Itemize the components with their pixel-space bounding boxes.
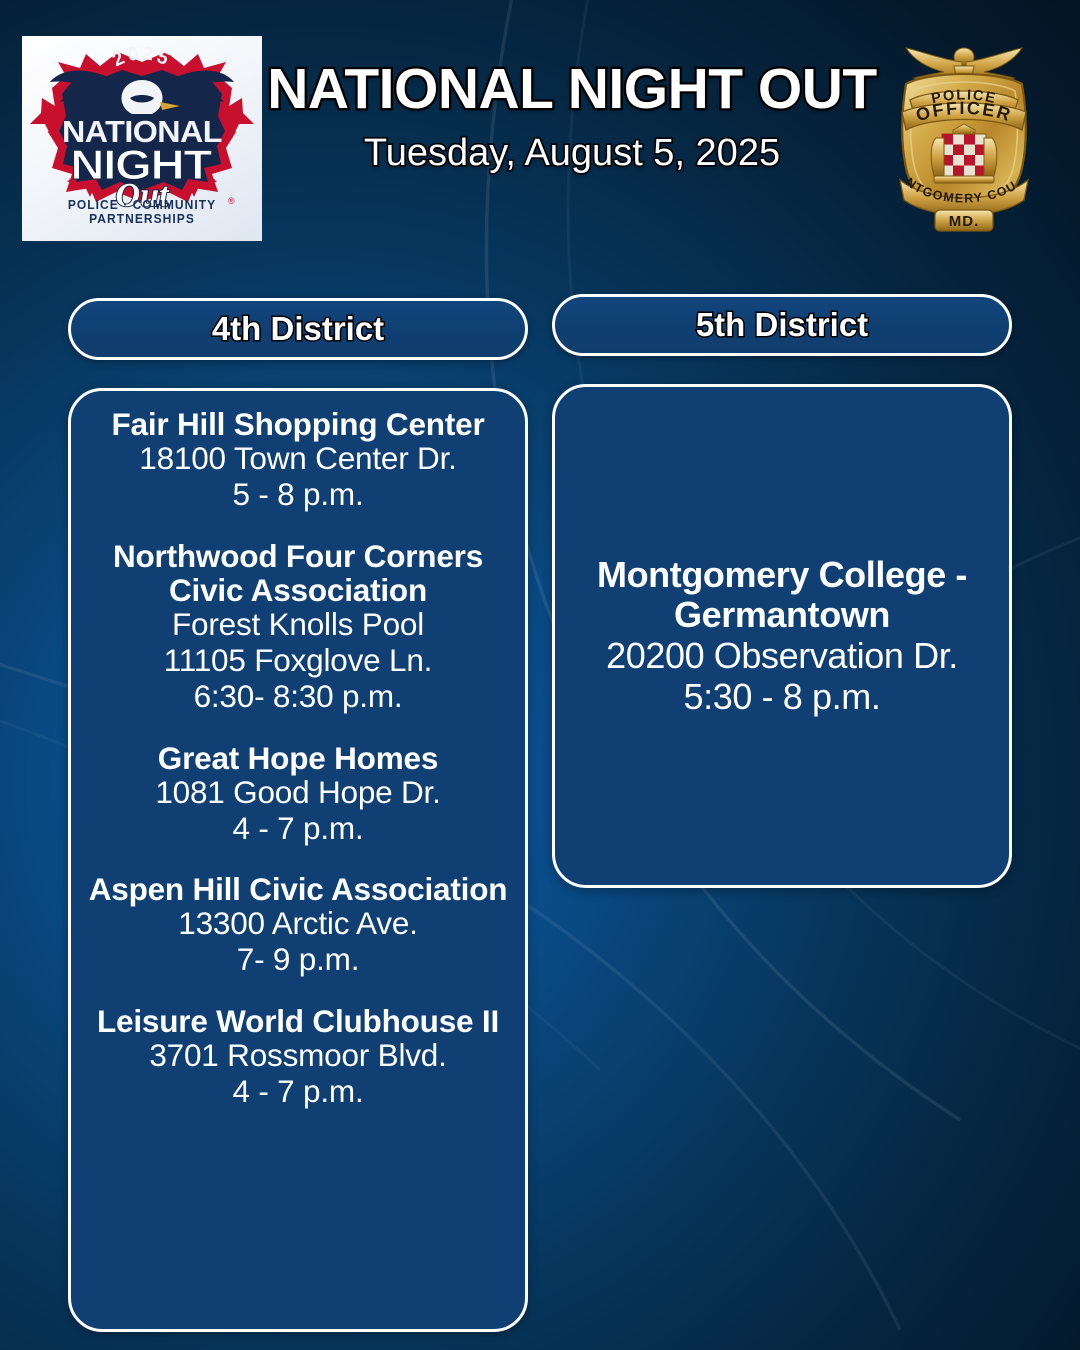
montgomery-county-police-badge: POLICE OFFICER <box>880 34 1048 240</box>
event-item: Aspen Hill Civic Association 13300 Arcti… <box>81 872 515 978</box>
district-header-5th-label: 5th District <box>696 306 868 344</box>
event-time: 6:30- 8:30 p.m. <box>81 679 515 715</box>
nno-logo-art: 2025 NATIONAL NIGHT Out ® <box>22 36 262 218</box>
poster-header: 2025 NATIONAL NIGHT Out ® POLICE · COMMU… <box>0 0 1080 250</box>
event-name: Great Hope Homes <box>81 741 515 775</box>
event-name: Montgomery College - Germantown <box>559 555 1005 634</box>
event-address: 18100 Town Center Dr. <box>81 441 515 477</box>
event-item: Montgomery College - Germantown 20200 Ob… <box>559 555 1005 716</box>
event-name: Leisure World Clubhouse II <box>81 1004 515 1038</box>
district-4-event-list: Fair Hill Shopping Center 18100 Town Cen… <box>71 391 525 1120</box>
event-time: 5 - 8 p.m. <box>81 477 515 513</box>
event-venue: Forest Knolls Pool <box>81 607 515 643</box>
event-time: 4 - 7 p.m. <box>81 1074 515 1110</box>
district-4-events-card: Fair Hill Shopping Center 18100 Town Cen… <box>68 388 528 1332</box>
district-5-events-card: Montgomery College - Germantown 20200 Ob… <box>552 384 1012 888</box>
event-address: 13300 Arctic Ave. <box>81 906 515 942</box>
event-name: Northwood Four Corners Civic Association <box>81 539 515 607</box>
event-address: 1081 Good Hope Dr. <box>81 775 515 811</box>
event-time: 5:30 - 8 p.m. <box>559 676 1005 717</box>
event-address: 3701 Rossmoor Blvd. <box>81 1038 515 1074</box>
logo-tagline: POLICE · COMMUNITY PARTNERSHIPS <box>27 198 257 226</box>
event-item: Northwood Four Corners Civic Association… <box>81 539 515 715</box>
national-night-out-logo: 2025 NATIONAL NIGHT Out ® POLICE · COMMU… <box>22 36 262 241</box>
event-item: Fair Hill Shopping Center 18100 Town Cen… <box>81 407 515 513</box>
event-address: 20200 Observation Dr. <box>559 635 1005 676</box>
event-name: Fair Hill Shopping Center <box>81 407 515 441</box>
district-5-event-list: Montgomery College - Germantown 20200 Ob… <box>555 555 1009 716</box>
district-header-4th-label: 4th District <box>212 310 384 348</box>
event-time: 4 - 7 p.m. <box>81 811 515 847</box>
event-item: Leisure World Clubhouse II 3701 Rossmoor… <box>81 1004 515 1110</box>
district-header-4th[interactable]: 4th District <box>68 298 528 360</box>
poster-root: 2025 NATIONAL NIGHT Out ® POLICE · COMMU… <box>0 0 1080 1350</box>
district-header-5th[interactable]: 5th District <box>552 294 1012 356</box>
event-address: 11105 Foxglove Ln. <box>81 643 515 679</box>
event-name: Aspen Hill Civic Association <box>81 872 515 906</box>
title-block: NATIONAL NIGHT OUT Tuesday, August 5, 20… <box>262 60 882 175</box>
svg-text:MD.: MD. <box>949 213 980 230</box>
event-date: Tuesday, August 5, 2025 <box>262 132 882 175</box>
page-title: NATIONAL NIGHT OUT <box>262 60 882 120</box>
event-time: 7- 9 p.m. <box>81 942 515 978</box>
event-item: Great Hope Homes 1081 Good Hope Dr. 4 - … <box>81 741 515 847</box>
